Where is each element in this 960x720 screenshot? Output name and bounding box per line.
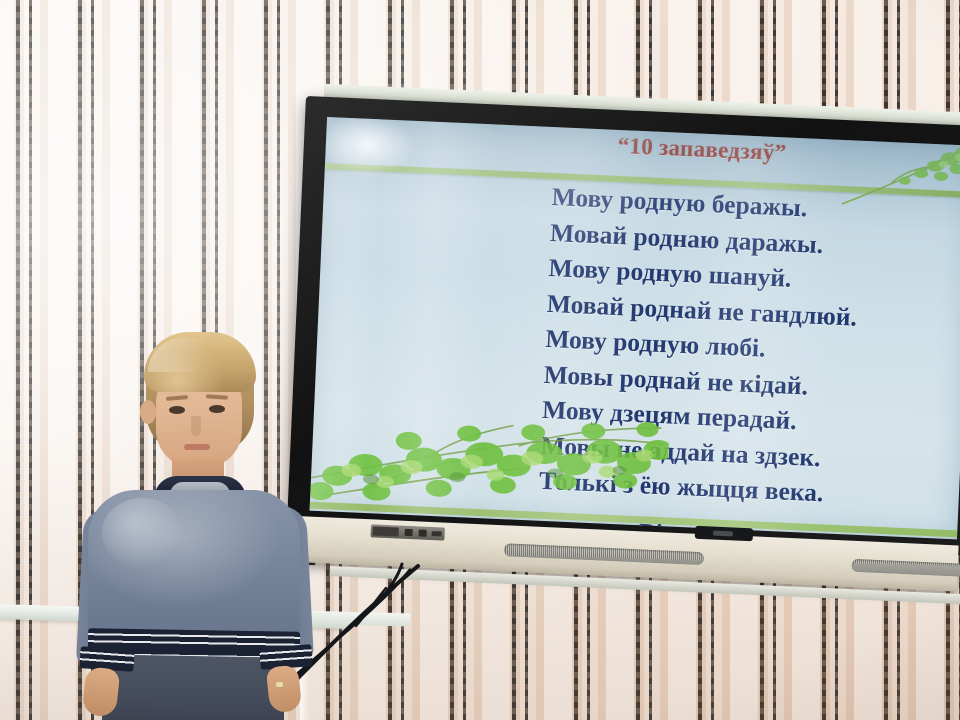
sweater-highlight (102, 498, 182, 568)
eye-right (209, 405, 225, 413)
hdmi-port[interactable] (373, 526, 399, 536)
classroom-photo: “10 запаведзяў” Мову родную беражы. Мова… (0, 0, 960, 720)
board-bezel: “10 запаведзяў” Мову родную беражы. Мова… (287, 96, 960, 556)
interactive-whiteboard[interactable]: “10 запаведзяў” Мову родную беражы. Мова… (285, 96, 960, 606)
hair-highlight (148, 338, 252, 372)
teacher-figure (62, 330, 330, 720)
ear (140, 400, 156, 424)
ring (276, 682, 283, 687)
usb-port-1[interactable] (405, 529, 413, 536)
slide-title: “10 запаведзяў” (617, 133, 787, 166)
board-screen[interactable]: “10 запаведзяў” Мову родную беражы. Мова… (310, 117, 960, 539)
eye-left (169, 406, 185, 414)
slide[interactable]: “10 запаведзяў” Мову родную беражы. Мова… (310, 117, 960, 539)
usb-port-2[interactable] (419, 529, 427, 536)
sensor-led (713, 531, 733, 537)
speaker-grille-right (851, 559, 960, 577)
power-port[interactable] (432, 531, 442, 536)
port-panel[interactable] (370, 524, 445, 540)
green-sprig-top-right-icon (829, 129, 960, 217)
mouth (184, 444, 210, 450)
speaker-grille-left (504, 543, 704, 565)
sensor-bar (695, 526, 754, 542)
nose (191, 416, 201, 436)
